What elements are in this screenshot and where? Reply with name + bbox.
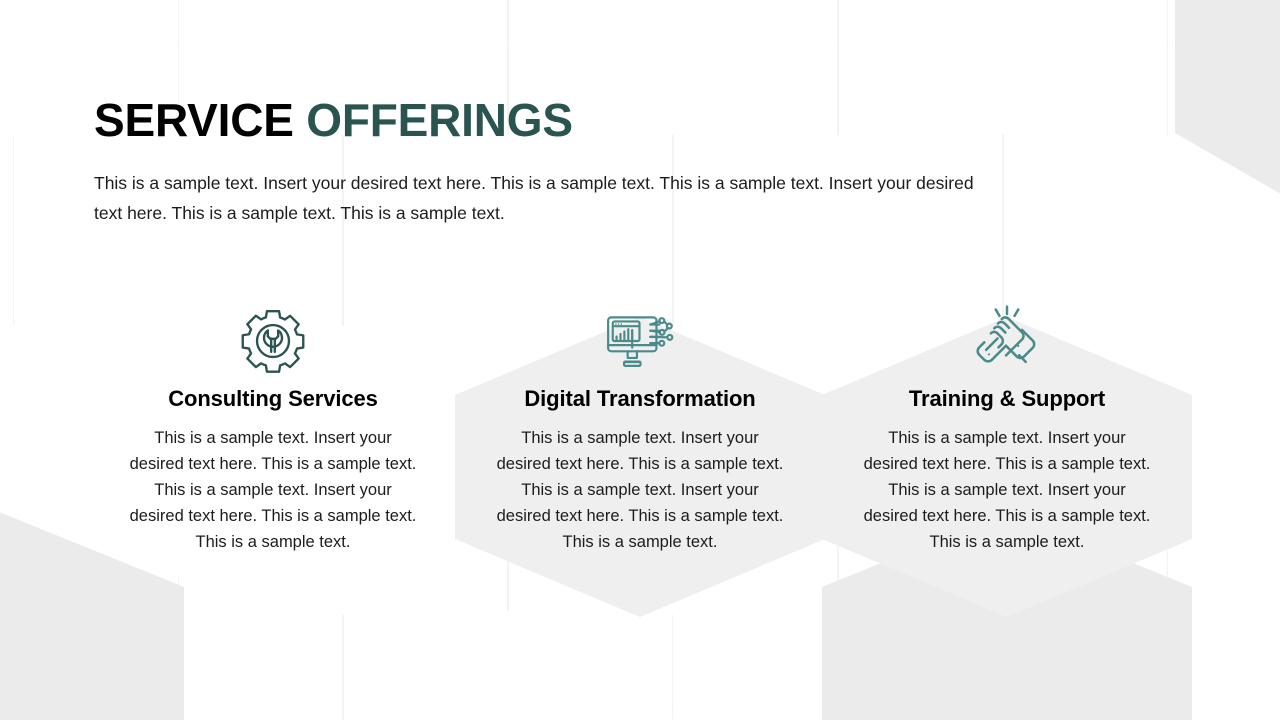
service-cards-row: Consulting Services This is a sample tex… [0,317,1280,617]
service-card-digital-transformation[interactable]: Digital Transformation This is a sample … [455,317,825,617]
page-title: SERVICE OFFERINGS [94,96,999,146]
header: SERVICE OFFERINGS This is a sample text.… [94,96,999,228]
service-card-body: This is a sample text. Insert your desir… [125,425,421,555]
service-card-body: This is a sample text. Insert your desir… [859,425,1155,555]
service-card-title: Training & Support [909,386,1105,412]
page-title-primary: SERVICE [94,94,306,146]
service-card-body: This is a sample text. Insert your desir… [492,425,788,555]
service-card-title: Consulting Services [168,386,378,412]
service-card-training-support[interactable]: Training & Support This is a sample text… [822,317,1192,617]
slide-canvas: SERVICE OFFERINGS This is a sample text.… [0,0,1280,720]
service-card-consulting-services[interactable]: Consulting Services This is a sample tex… [88,317,458,617]
page-title-accent: OFFERINGS [306,94,573,146]
bg-hexagon-solid-top-right [1175,0,1280,228]
page-subtitle: This is a sample text. Insert your desir… [94,168,999,228]
service-card-title: Digital Transformation [524,386,755,412]
